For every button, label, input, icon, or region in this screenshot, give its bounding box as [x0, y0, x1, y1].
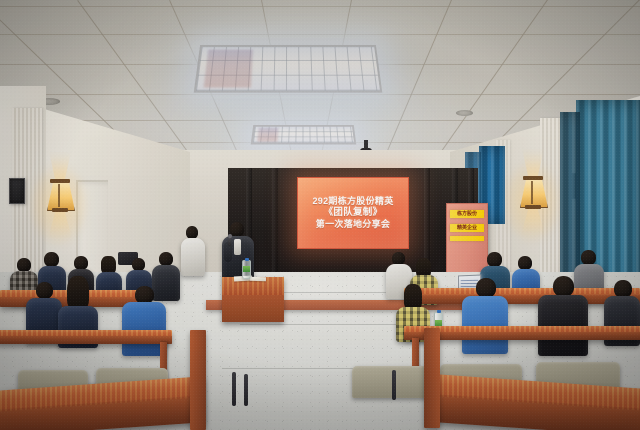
projection-screen: 292期栋方股份精英 《团队复制》 第一次落地分享会 — [297, 177, 409, 249]
wall-sconce — [518, 179, 548, 209]
conference-desk — [0, 330, 172, 344]
chair-leg — [392, 370, 396, 400]
hair — [67, 276, 89, 310]
screen-text-line-1: 292期栋方股份精英 — [312, 197, 393, 206]
conference-room-photo: 292期栋方股份精英 《团队复制》 第一次落地分享会 栋方股份 精英企业 — [0, 0, 640, 430]
screen-text-line-2: 《团队复制》 — [324, 208, 383, 218]
document-papers — [250, 277, 266, 282]
desk-side-panel — [190, 330, 206, 430]
podium-desk — [222, 277, 284, 322]
person-audience — [462, 278, 508, 354]
water-bottle — [242, 260, 251, 279]
ceiling-vent — [456, 110, 473, 116]
person-assistant — [180, 226, 206, 282]
ceiling-light-panel — [251, 125, 357, 144]
microphone — [228, 237, 231, 246]
banner-text-line-1: 栋方股份 — [450, 210, 484, 218]
banner-text-line-2: 精英企业 — [450, 224, 484, 232]
person-audience — [538, 276, 588, 356]
screen-text-line-3: 第一次落地分享会 — [316, 220, 390, 229]
chair-leg — [244, 374, 248, 406]
desk-side-panel — [424, 328, 440, 428]
ceiling-light-panel — [194, 45, 383, 93]
wall-sconce — [45, 182, 75, 212]
chair-leg — [232, 372, 236, 406]
